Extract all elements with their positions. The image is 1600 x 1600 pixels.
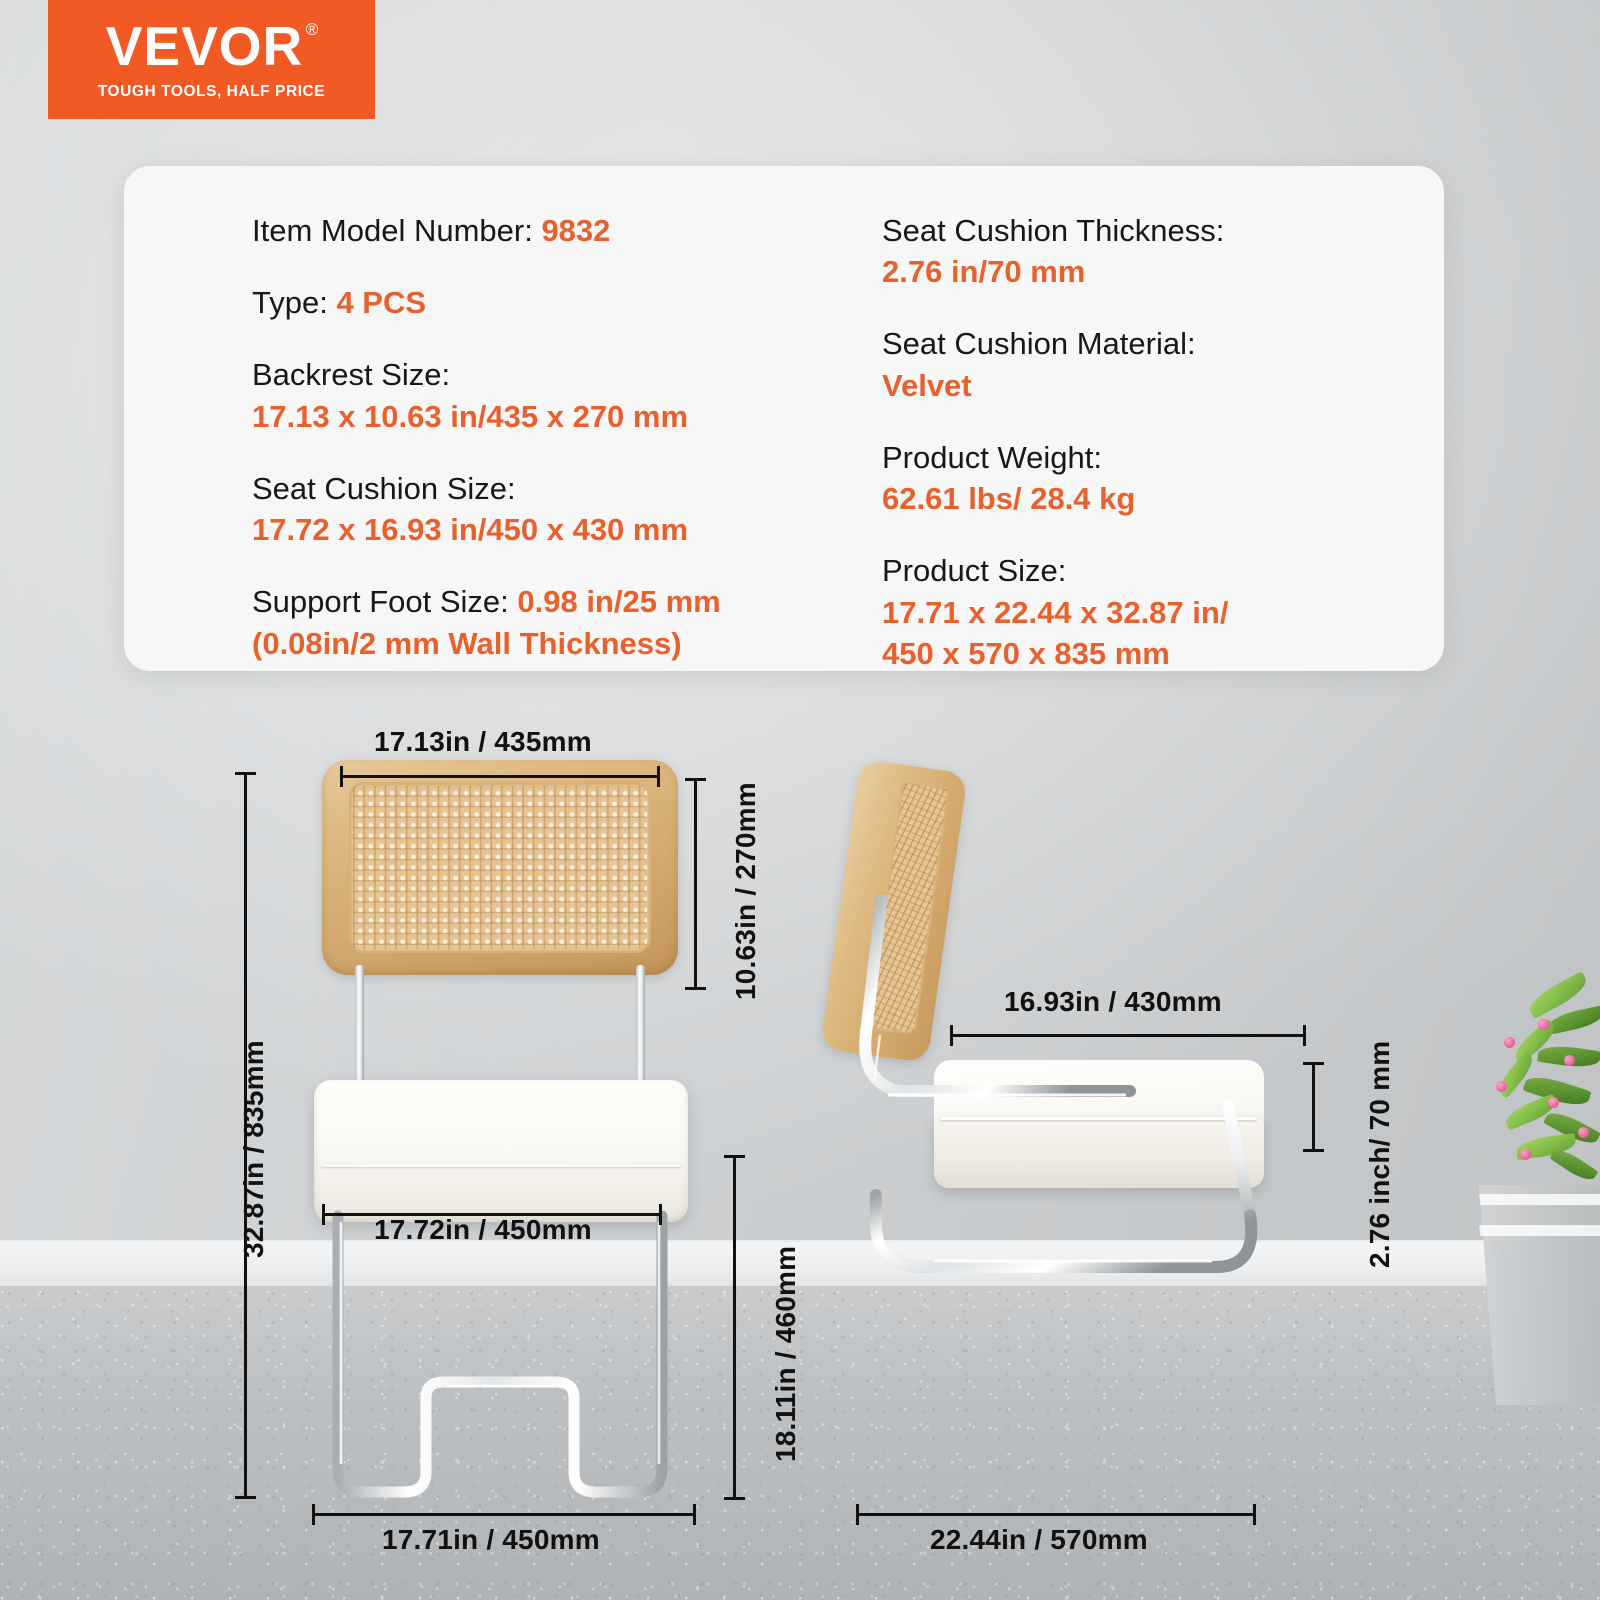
seat-cushion-front	[314, 1080, 688, 1222]
spec-label: Product Weight:	[882, 437, 1444, 478]
specification-card: Item Model Number: 9832 Type: 4 PCS Back…	[124, 166, 1444, 671]
backrest-cane-panel	[349, 782, 651, 953]
spec-item-product-size: Product Size: 17.71 x 22.44 x 32.87 in/ …	[882, 550, 1444, 674]
plant-flower	[1564, 1055, 1575, 1066]
spec-value: 62.61 lbs/ 28.4 kg	[882, 478, 1444, 519]
spec-value: 17.72 x 16.93 in/450 x 430 mm	[252, 509, 804, 550]
dim-line-backrest-width	[340, 775, 660, 778]
dim-label-cushion-thickness: 2.76 inch/ 70 mm	[1364, 1041, 1396, 1268]
spec-value: 2.76 in/70 mm	[882, 251, 1444, 292]
spec-item-backrest-size: Backrest Size: 17.13 x 10.63 in/435 x 27…	[252, 354, 804, 436]
spec-value: 0.98 in/25 mm	[517, 584, 720, 619]
vevor-logo: VEVOR® TOUGH TOOLS, HALF PRICE	[48, 0, 375, 119]
chair-side-view	[830, 765, 1330, 1500]
plant-leaf	[1547, 1005, 1600, 1034]
backrest-wood-frame	[322, 760, 678, 975]
spec-label: Item Model Number:	[252, 213, 541, 248]
plant-flower	[1578, 1127, 1589, 1138]
logo-tagline: TOUGH TOOLS, HALF PRICE	[98, 83, 325, 101]
plant-flower	[1538, 1019, 1549, 1030]
dim-line-base-depth	[856, 1513, 1256, 1516]
plant-flower	[1496, 1081, 1507, 1092]
registered-trademark-icon: ®	[306, 21, 320, 38]
dim-line-backrest-height	[694, 778, 697, 990]
chrome-cantilever-base-front	[300, 1210, 700, 1500]
chrome-back-post-left	[355, 965, 364, 1091]
spec-item-cushion-material: Seat Cushion Material: Velvet	[882, 323, 1444, 405]
dim-line-seat-depth	[950, 1034, 1306, 1037]
plant-pot	[1470, 1185, 1600, 1405]
plant-flower	[1548, 1097, 1559, 1108]
product-spec-scene: VEVOR® TOUGH TOOLS, HALF PRICE Item Mode…	[0, 0, 1600, 1600]
cushion-piping-seam	[321, 1164, 681, 1167]
dim-label-backrest-height: 10.63in / 270mm	[730, 782, 762, 1000]
plant-pot-band	[1470, 1225, 1600, 1236]
plant-flower	[1520, 1149, 1531, 1160]
spec-item-model-number: Item Model Number: 9832	[252, 210, 804, 251]
spec-label: Seat Cushion Size:	[252, 468, 804, 509]
plant-leaf	[1550, 1145, 1599, 1185]
spec-item-product-weight: Product Weight: 62.61 lbs/ 28.4 kg	[882, 437, 1444, 519]
dim-label-seat-width: 17.72in / 450mm	[374, 1214, 592, 1246]
spec-value-secondary: 450 x 570 x 835 mm	[882, 633, 1444, 674]
spec-value: 17.71 x 22.44 x 32.87 in/	[882, 592, 1444, 633]
spec-item-seat-cushion-size: Seat Cushion Size: 17.72 x 16.93 in/450 …	[252, 468, 804, 550]
dim-label-seat-height: 18.11in / 460mm	[770, 1246, 802, 1462]
dim-label-base-width: 17.71in / 450mm	[382, 1524, 600, 1556]
dim-line-base-width	[312, 1513, 696, 1516]
dim-label-seat-depth: 16.93in / 430mm	[1004, 986, 1222, 1018]
spec-label: Product Size:	[882, 550, 1444, 591]
dim-line-cushion-thickness	[1312, 1062, 1315, 1152]
decorative-plant	[1452, 985, 1600, 1405]
spec-column-right: Seat Cushion Thickness: 2.76 in/70 mm Se…	[804, 210, 1444, 671]
spec-item-support-foot-size: Support Foot Size: 0.98 in/25 mm (0.08in…	[252, 581, 804, 663]
spec-label: Type:	[252, 285, 336, 320]
dim-line-seat-height	[733, 1155, 736, 1500]
logo-brand-text: VEVOR	[106, 15, 304, 77]
spec-value-secondary: (0.08in/2 mm Wall Thickness)	[252, 623, 804, 664]
spec-value: 17.13 x 10.63 in/435 x 270 mm	[252, 396, 804, 437]
spec-value: 9832	[541, 213, 610, 248]
logo-wordmark: VEVOR®	[106, 19, 318, 74]
dim-label-base-depth: 22.44in / 570mm	[930, 1524, 1148, 1556]
spec-label: Seat Cushion Thickness:	[882, 210, 1444, 251]
spec-value: Velvet	[882, 365, 1444, 406]
spec-value: 4 PCS	[336, 285, 426, 320]
spec-label: Support Foot Size:	[252, 584, 517, 619]
dim-label-total-height: 32.87in / 835mm	[238, 1040, 270, 1258]
chair-front-view	[300, 760, 700, 1500]
spec-label: Backrest Size:	[252, 354, 804, 395]
spec-item-type: Type: 4 PCS	[252, 282, 804, 323]
plant-pot-band	[1470, 1194, 1600, 1205]
dim-line-total-height	[244, 772, 247, 1499]
chrome-back-post-right	[636, 965, 645, 1091]
cane-weave-texture	[353, 786, 647, 949]
spec-label: Seat Cushion Material:	[882, 323, 1444, 364]
spec-column-left: Item Model Number: 9832 Type: 4 PCS Back…	[124, 210, 804, 671]
plant-flower	[1504, 1037, 1515, 1048]
dim-label-backrest-width: 17.13in / 435mm	[374, 726, 592, 758]
spec-item-cushion-thickness: Seat Cushion Thickness: 2.76 in/70 mm	[882, 210, 1444, 292]
dim-line-seat-width	[322, 1213, 662, 1216]
